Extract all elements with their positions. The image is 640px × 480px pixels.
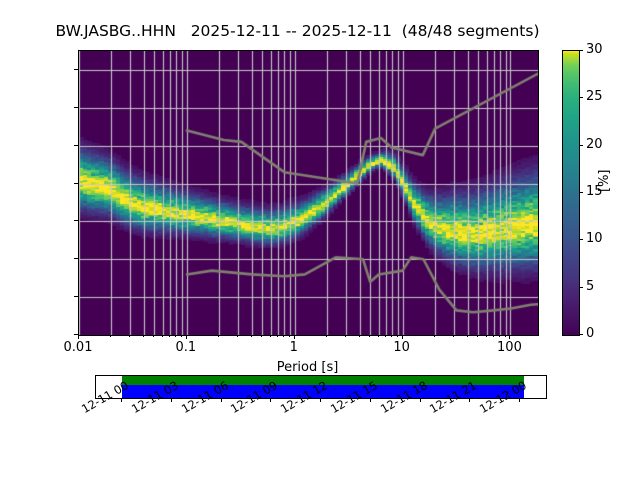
x-tick-mark-minor (453, 335, 454, 337)
timeline-tick-mark (469, 398, 470, 402)
colorbar-tick-label: 30 (586, 42, 603, 57)
x-tick-mark-minor (505, 335, 506, 337)
colorbar-tick-label: 0 (586, 326, 594, 341)
x-tick-mark-minor (486, 335, 487, 337)
x-tick-mark (186, 335, 187, 339)
colorbar-tick-mark (579, 287, 583, 288)
x-tick-mark-minor (251, 335, 252, 337)
x-tick-label: 10 (362, 340, 442, 355)
colorbar-tick-mark (579, 192, 583, 193)
x-tick-mark-minor (434, 335, 435, 337)
x-tick-mark-minor (326, 335, 327, 337)
grid-and-noise-model-overlay (79, 51, 538, 335)
x-tick-mark-minor (385, 335, 386, 337)
x-tick-label: 0.01 (38, 340, 118, 355)
x-tick-mark-minor (261, 335, 262, 337)
timeline-tick-mark (171, 398, 172, 402)
x-tick-mark-minor (175, 335, 176, 337)
x-tick-mark-minor (477, 335, 478, 337)
x-tick-mark-minor (359, 335, 360, 337)
x-tick-mark-minor (345, 335, 346, 337)
x-tick-mark-minor (237, 335, 238, 337)
colorbar-tick-mark (579, 50, 583, 51)
x-tick-mark-minor (499, 335, 500, 337)
x-tick-mark-minor (391, 335, 392, 337)
x-axis-label: Period [s] (78, 360, 537, 375)
timeline-tick-mark (320, 398, 321, 402)
page-title: BW.JASBG..HHN 2025-12-11 -- 2025-12-11 (… (0, 22, 595, 40)
psd-plot-area (78, 50, 539, 336)
x-tick-mark-minor (129, 335, 130, 337)
timeline-tick-mark (370, 398, 371, 402)
timeline-tick-mark (121, 398, 122, 402)
colorbar-tick-mark (579, 239, 583, 240)
colorbar-tick-label: 20 (586, 137, 603, 152)
x-tick-mark (509, 335, 510, 339)
x-tick-mark-minor (378, 335, 379, 337)
x-tick-mark (78, 335, 79, 339)
timeline-tick-mark (270, 398, 271, 402)
colorbar-tick-mark (579, 145, 583, 146)
x-tick-mark-minor (110, 335, 111, 337)
x-tick-mark-minor (143, 335, 144, 337)
colorbar-tick-label: 10 (586, 231, 603, 246)
x-tick-mark-minor (277, 335, 278, 337)
x-tick-mark-minor (218, 335, 219, 337)
x-tick-label: 1 (254, 340, 334, 355)
x-tick-mark-minor (162, 335, 163, 337)
x-tick-label: 100 (469, 340, 549, 355)
x-tick-mark-minor (181, 335, 182, 337)
x-tick-mark (402, 335, 403, 339)
x-tick-label: 0.1 (146, 340, 226, 355)
timeline-tick-mark (221, 398, 222, 402)
colorbar-tick-mark (579, 334, 583, 335)
colorbar-tick-label: 5 (586, 279, 594, 294)
x-tick-mark-minor (397, 335, 398, 337)
colorbar-label: [%] (597, 170, 612, 193)
x-tick-mark-minor (153, 335, 154, 337)
x-tick-mark-minor (283, 335, 284, 337)
x-tick-mark-minor (289, 335, 290, 337)
colorbar-tick-label: 25 (586, 89, 603, 104)
x-tick-mark-minor (493, 335, 494, 337)
x-tick-mark-minor (467, 335, 468, 337)
timeline-tick-mark (420, 398, 421, 402)
colorbar (562, 50, 580, 336)
x-tick-mark-minor (270, 335, 271, 337)
x-tick-mark (294, 335, 295, 339)
timeline-tick-mark (519, 398, 520, 402)
x-tick-mark-minor (369, 335, 370, 337)
colorbar-tick-mark (579, 97, 583, 98)
x-tick-mark-minor (169, 335, 170, 337)
ppsd-figure: BW.JASBG..HHN 2025-12-11 -- 2025-12-11 (… (0, 0, 640, 480)
